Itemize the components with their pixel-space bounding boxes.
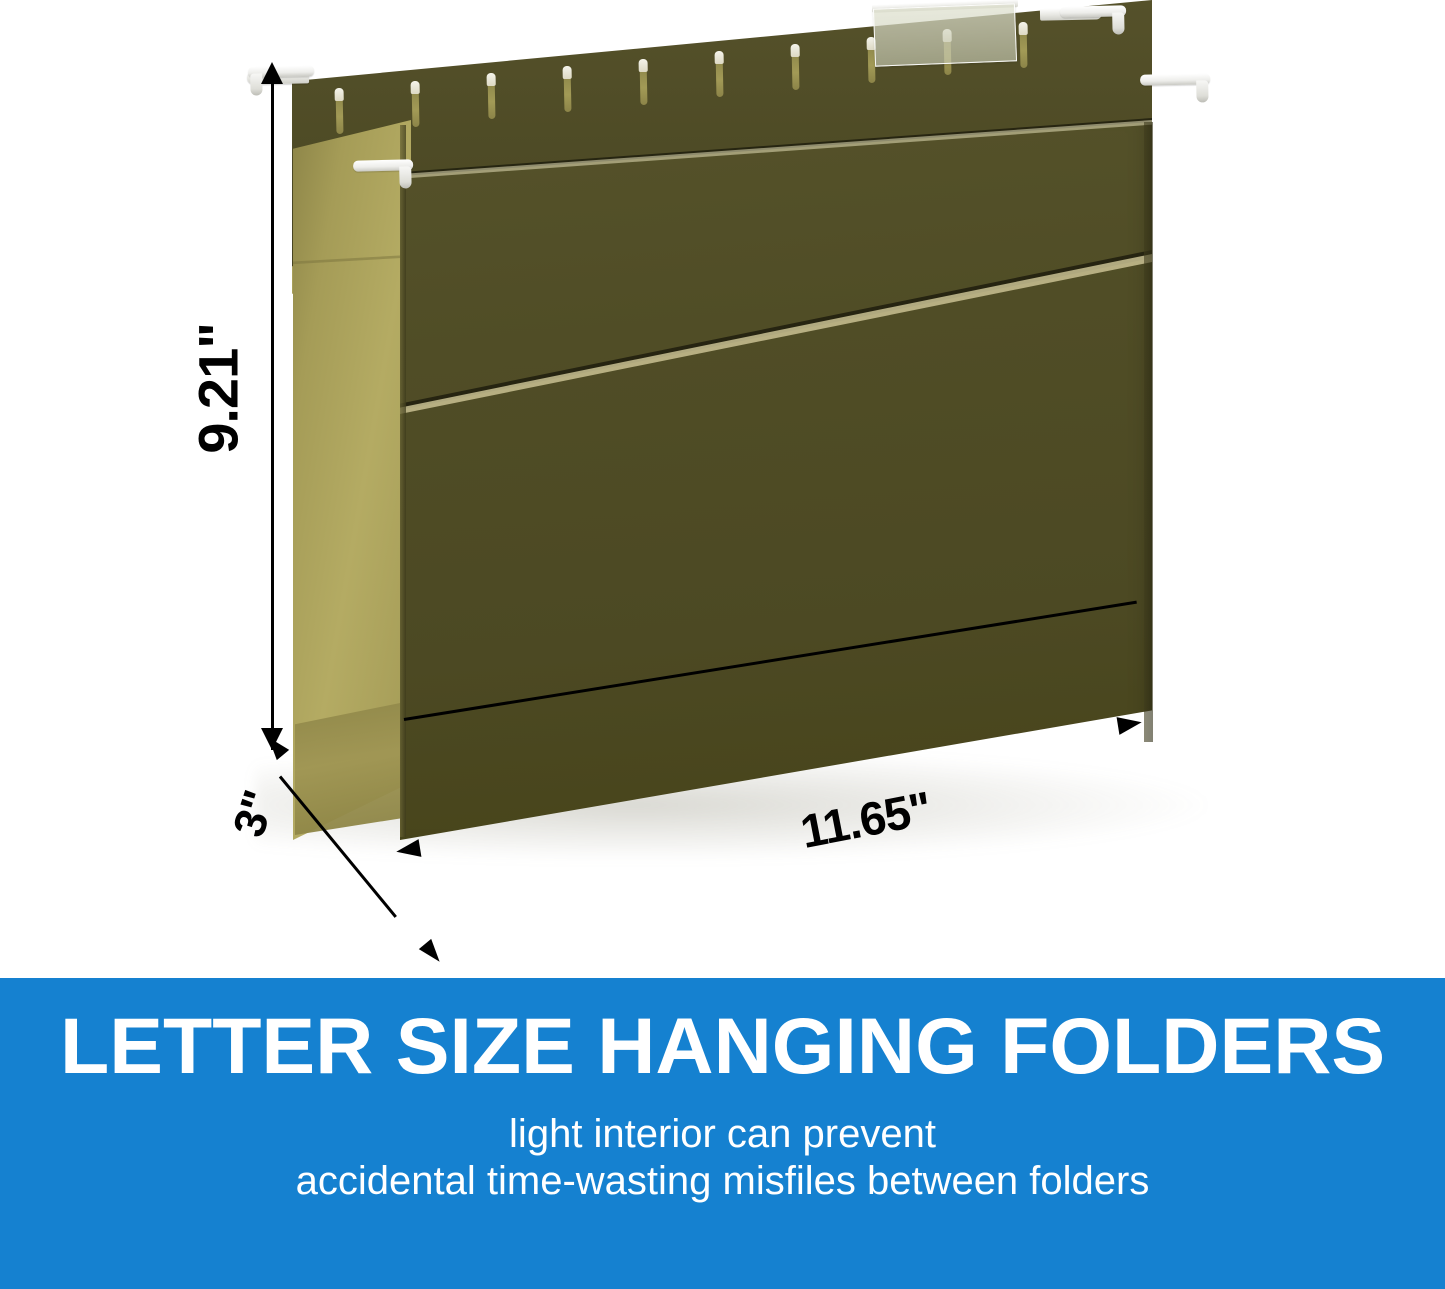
- keyhole-tab-slot: [1019, 22, 1029, 68]
- marketing-banner: LETTER SIZE HANGING FOLDERS light interi…: [0, 978, 1445, 1289]
- product-photo: 9.21" 11.65" 3": [0, 0, 1445, 978]
- width-dimension-arrow-right: [1117, 713, 1144, 735]
- banner-subtitle-line-2: accidental time-wasting misfiles between…: [296, 1158, 1150, 1205]
- keyhole-slot-cap: [639, 59, 648, 72]
- keyhole-tab-slot: [791, 44, 801, 90]
- keyhole-tab-slot: [487, 73, 497, 119]
- keyhole-slot-stem: [336, 96, 344, 134]
- plastic-hook-drop: [1196, 80, 1208, 102]
- keyhole-slot-stem: [1020, 30, 1028, 68]
- front-panel-right-edge: [1144, 122, 1153, 742]
- keyhole-tab-slot: [411, 81, 421, 127]
- keyhole-slot-cap: [411, 81, 420, 94]
- keyhole-slot-cap: [335, 88, 344, 101]
- depth-dimension-arrow-lower-right: [419, 939, 446, 967]
- keyhole-slot-cap: [715, 51, 724, 64]
- keyhole-slot-stem: [488, 81, 496, 119]
- height-dimension-label: 9.21": [186, 289, 251, 489]
- folder-front-panel: [400, 120, 1152, 840]
- keyhole-slot-cap: [791, 44, 800, 57]
- banner-title: LETTER SIZE HANGING FOLDERS: [60, 1006, 1385, 1085]
- keyhole-slot-cap: [487, 73, 496, 86]
- plastic-hook-top-right-upper: [1060, 5, 1126, 6]
- height-dimension-line: [271, 72, 274, 750]
- keyhole-slot-stem: [716, 59, 724, 97]
- front-panel-left-fold: [400, 125, 406, 837]
- width-dimension-arrow-left: [395, 839, 422, 861]
- keyhole-slot-cap: [563, 66, 572, 79]
- keyhole-tab-slot: [639, 59, 649, 105]
- banner-subtitle: light interior can prevent accidental ti…: [296, 1111, 1150, 1205]
- banner-subtitle-line-1: light interior can prevent: [296, 1111, 1150, 1158]
- keyhole-tab-slot: [335, 88, 345, 134]
- keyhole-slot-stem: [412, 89, 420, 127]
- keyhole-slot-stem: [640, 67, 648, 105]
- keyhole-slot-cap: [1019, 22, 1028, 35]
- keyhole-slot-stem: [792, 52, 800, 90]
- keyhole-slot-stem: [564, 74, 572, 112]
- plastic-hook-drop: [399, 166, 412, 188]
- keyhole-tab-slot: [563, 66, 573, 112]
- clear-tab-holder: [873, 3, 1017, 66]
- plastic-hook-drop: [1112, 12, 1124, 34]
- keyhole-tab-slot: [715, 51, 725, 97]
